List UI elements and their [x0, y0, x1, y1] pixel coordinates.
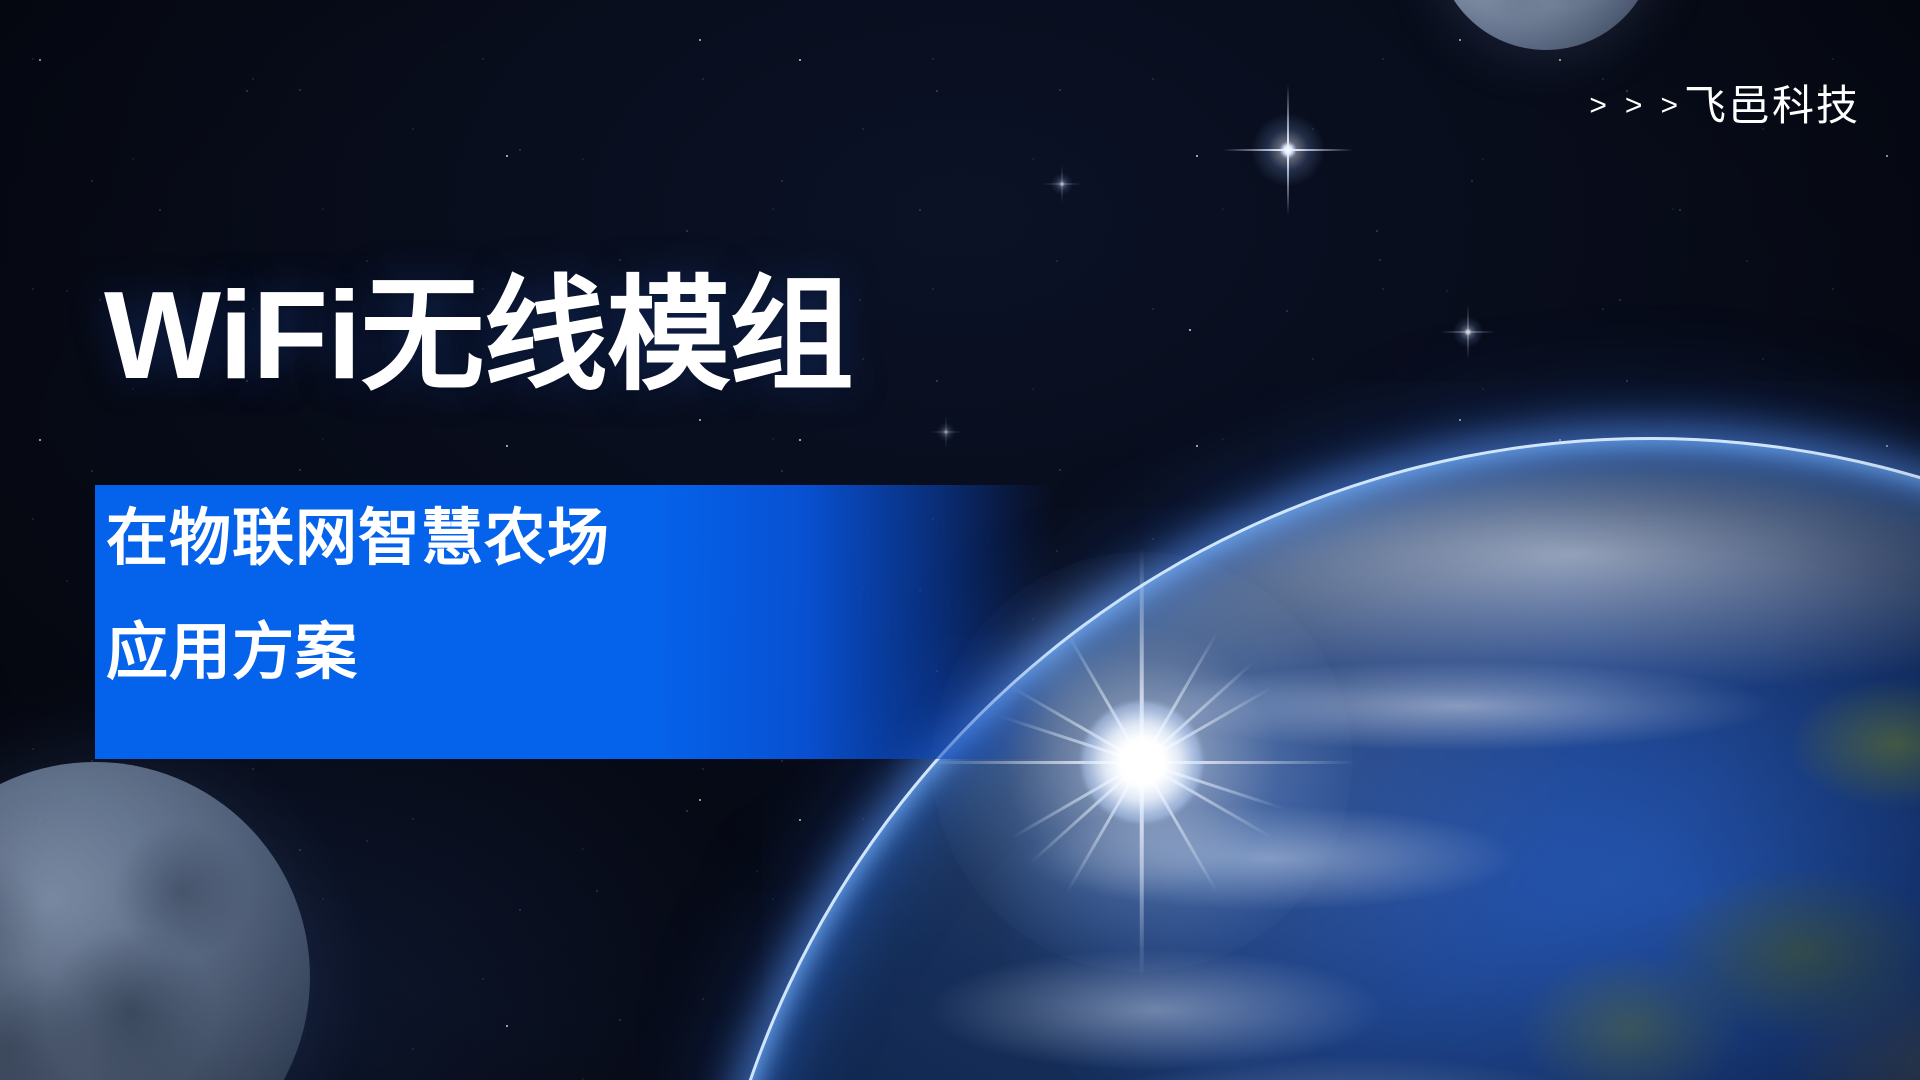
- moon-bottom-left: [0, 762, 310, 1080]
- brand-logo[interactable]: > > > 飞邑科技: [1589, 85, 1860, 127]
- subtitle-line-1: 在物联网智慧农场: [106, 508, 966, 570]
- poster-canvas: > > > 飞邑科技 WiFi无线模组 在物联网智慧农场 应用方案: [0, 0, 1920, 1080]
- moon-top-right: [1436, 0, 1656, 50]
- chevron-group: > > >: [1589, 91, 1678, 121]
- chevron-right-icon-3: >: [1660, 91, 1678, 121]
- chevron-right-icon-1: >: [1589, 91, 1607, 121]
- page-title: WiFi无线模组: [104, 274, 853, 398]
- brand-name: 飞邑科技: [1684, 85, 1860, 127]
- subtitle-line-2: 应用方案: [106, 622, 966, 684]
- subtitle-text-block: 在物联网智慧农场 应用方案: [106, 508, 966, 684]
- chevron-right-icon-2: >: [1625, 91, 1643, 121]
